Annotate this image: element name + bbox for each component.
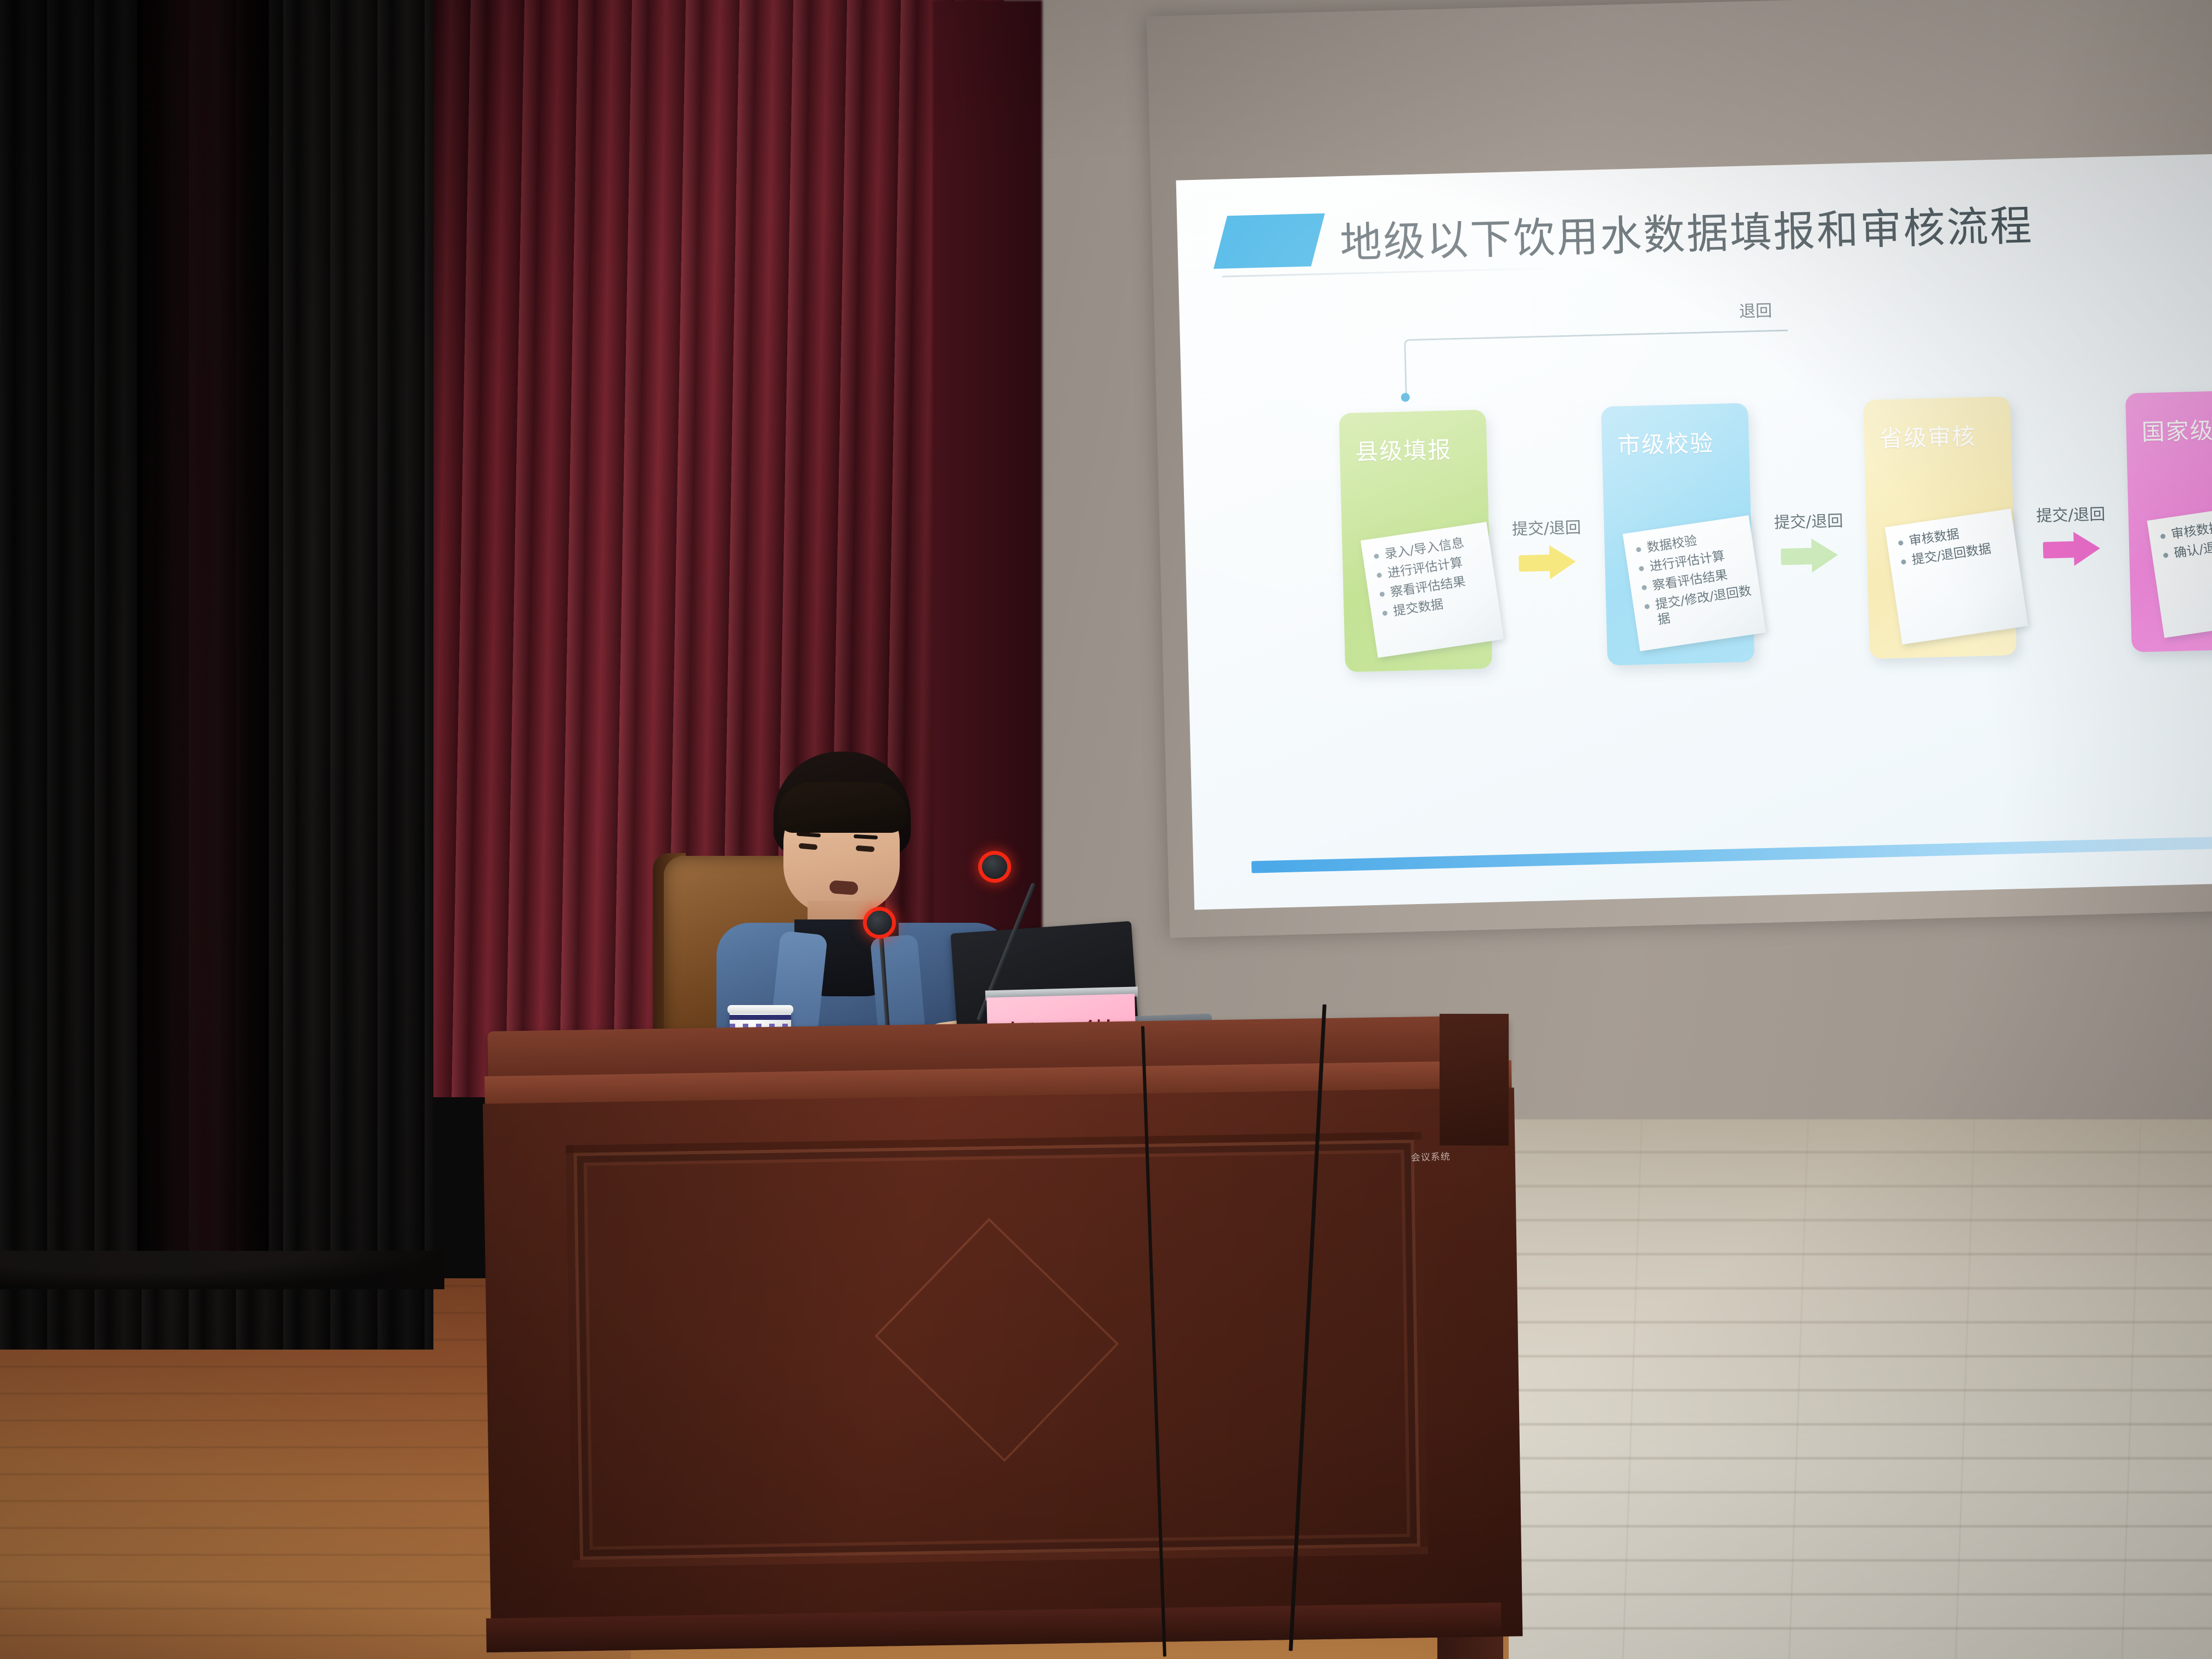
return-loop-arrowhead: [1401, 393, 1410, 402]
arrow-right-icon: [2042, 531, 2101, 567]
flow-node-note: 审核数据 提交/退回数据: [1885, 509, 2028, 645]
flow-node-province: 省级审核 审核数据 提交/退回数据: [1863, 396, 2017, 659]
slide-footer-bar: [1251, 836, 2212, 873]
title-accent-chip: [1214, 213, 1325, 269]
flow-node-title: 县级填报: [1355, 431, 1452, 467]
curtain-hem: [0, 1251, 444, 1289]
arrow-right-icon: [1780, 538, 1838, 573]
flow-node-note: 录入/导入信息 进行评估计算 察看评估结果 提交数据: [1361, 522, 1504, 658]
mug-rim-band: [730, 1015, 791, 1020]
flow-node-note: 审核数据 确认/退回数据: [2147, 502, 2212, 638]
return-loop-label: 退回: [1739, 297, 1772, 322]
flow-node-title: 省级审核: [1879, 418, 1977, 454]
slide-title-row: 地级以下饮用水数据填报和审核流程: [1220, 191, 2034, 272]
curtain-fold-edge: [137, 0, 269, 1273]
projection-screen: 地级以下饮用水数据填报和审核流程 退回 县级填报 录入/导入信息 进行评估计算 …: [1147, 0, 2212, 938]
return-loop-line: [1404, 330, 1789, 397]
flow-connector-1: 提交/退回: [1486, 407, 1607, 668]
note-bullet: 审核数据: [2158, 513, 2212, 544]
flow-node-title: 国家级确认: [2141, 411, 2212, 448]
floor-speaker: [1440, 1014, 1509, 1145]
flow-node-note: 数据校验 进行评估计算 察看评估结果 提交/修改/退回数据: [1623, 515, 1766, 651]
flow-node-national: 国家级确认 审核数据 确认/退回数据: [2125, 390, 2212, 652]
connector-label: 提交/退回: [2036, 501, 2106, 526]
mug-lid: [727, 1005, 793, 1014]
arrow-right-icon: [1519, 545, 1577, 580]
flow-node-city: 市级校验 数据校验 进行评估计算 察看评估结果 提交/修改/退回数据: [1601, 403, 1754, 665]
microphone-head-right: [982, 855, 1007, 879]
floor-right-planks: [1476, 1119, 2212, 1659]
podium-shading: [483, 1087, 1522, 1652]
flow-node-county: 县级填报 录入/导入信息 进行评估计算 察看评估结果 提交数据: [1339, 410, 1492, 673]
microphone-head-left: [867, 911, 892, 935]
flow-connector-2: 提交/退回: [1748, 400, 1870, 662]
connector-label: 提交/退回: [1774, 508, 1843, 533]
flow-node-title: 市级校验: [1617, 425, 1714, 460]
flow-connector-3: 提交/退回: [2010, 393, 2132, 655]
slide-title: 地级以下饮用水数据填报和审核流程: [1339, 191, 2034, 269]
hair-fringe: [778, 782, 907, 833]
connector-label: 提交/退回: [1511, 515, 1581, 539]
wooden-podium: 会议系统: [483, 1031, 1514, 1659]
podium-logo-label: 会议系统: [1410, 1149, 1451, 1164]
presentation-slide: 地级以下饮用水数据填报和审核流程 退回 县级填报 录入/导入信息 进行评估计算 …: [1176, 154, 2212, 910]
mouth: [829, 880, 859, 895]
podium-front-face: 会议系统: [483, 1087, 1522, 1652]
workflow-chain: 县级填报 录入/导入信息 进行评估计算 察看评估结果 提交数据 提交/退回: [1339, 390, 2212, 672]
stage-scene: 地级以下饮用水数据填报和审核流程 退回 县级填报 录入/导入信息 进行评估计算 …: [0, 0, 2212, 1659]
